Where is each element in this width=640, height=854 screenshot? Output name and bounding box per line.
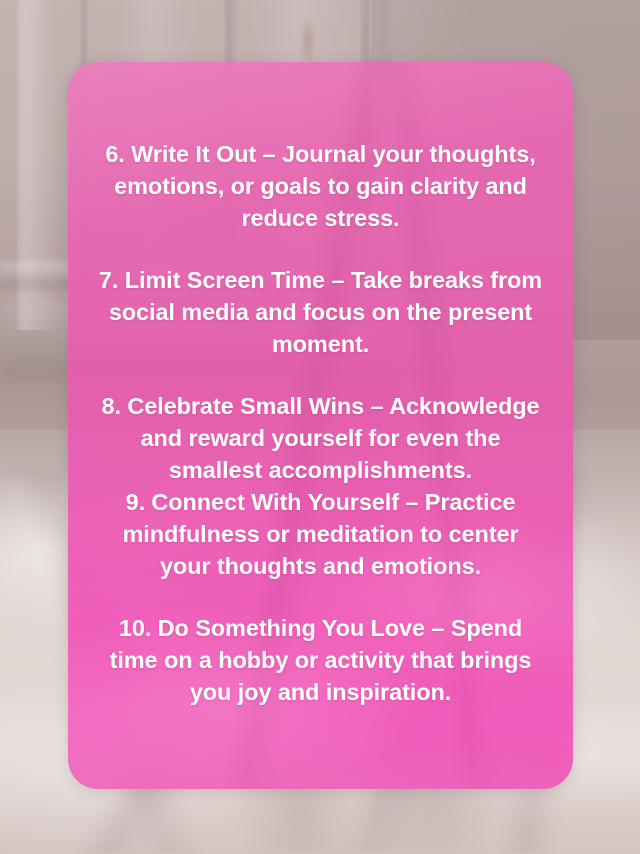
tip-item-10: 10. Do Something You Love – Spend time o… (96, 612, 545, 708)
tip-item-8: 8. Celebrate Small Wins – Acknowledge an… (96, 390, 545, 486)
screenshot-root: 6. Write It Out – Journal your thoughts,… (0, 0, 640, 854)
tip-item-7: 7. Limit Screen Time – Take breaks from … (96, 264, 545, 360)
tip-item-6: 6. Write It Out – Journal your thoughts,… (96, 138, 545, 234)
pink-quote-card: 6. Write It Out – Journal your thoughts,… (68, 62, 573, 789)
tips-list: 6. Write It Out – Journal your thoughts,… (68, 62, 573, 708)
tip-item-9: 9. Connect With Yourself – Practice mind… (96, 486, 545, 582)
